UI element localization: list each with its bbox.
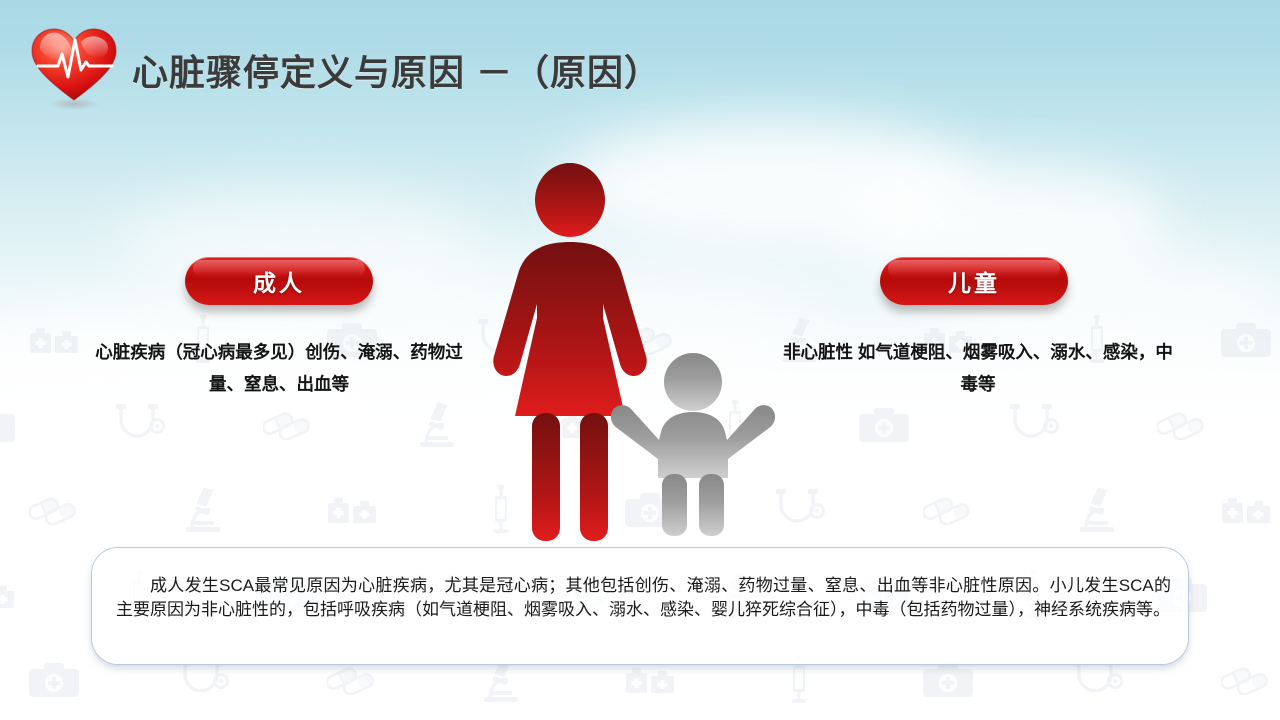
summary-note-paragraph: 成人发生SCA最常见原因为心脏疾病，尤其是冠心病；其他包括创伤、淹溺、药物过量、… bbox=[116, 574, 1171, 622]
pills-icon bbox=[1171, 640, 1280, 720]
pills-icon bbox=[873, 470, 1022, 550]
people-illustration bbox=[470, 160, 800, 550]
badge-child[interactable]: 儿童 bbox=[880, 257, 1068, 305]
first-aid-kit-icon bbox=[0, 385, 65, 465]
medical-bag-icon bbox=[278, 470, 427, 550]
slide-header: 心脏骤停定义与原因 －（原因） bbox=[0, 0, 1280, 130]
adult-female-figure-icon bbox=[493, 163, 646, 541]
badge-child-label: 儿童 bbox=[948, 264, 1000, 298]
medical-bag-icon bbox=[1171, 470, 1280, 550]
child-figure-icon bbox=[611, 353, 775, 536]
page-title: 心脏骤停定义与原因 －（原因） bbox=[132, 44, 661, 96]
child-causes-text: 非心脏性 如气道梗阻、烟雾吸入、溺水、感染，中毒等 bbox=[778, 336, 1178, 400]
pills-icon bbox=[0, 470, 129, 550]
microscope-icon bbox=[129, 470, 278, 550]
badge-adult[interactable]: 成人 bbox=[185, 257, 373, 305]
slide-canvas: 心脏骤停定义与原因 －（原因） bbox=[0, 0, 1280, 720]
first-aid-kit-icon bbox=[1171, 300, 1280, 380]
heart-ecg-icon bbox=[26, 24, 122, 112]
medical-bag-icon bbox=[0, 555, 65, 635]
summary-note-text: 成人发生SCA最常见原因为心脏疾病，尤其是冠心病；其他包括创伤、淹溺、药物过量、… bbox=[116, 574, 1171, 622]
adult-causes-text: 心脏疾病（冠心病最多见）创伤、淹溺、药物过量、窒息、出血等 bbox=[79, 336, 479, 400]
microscope-icon bbox=[1022, 470, 1171, 550]
badge-adult-label: 成人 bbox=[253, 264, 305, 298]
